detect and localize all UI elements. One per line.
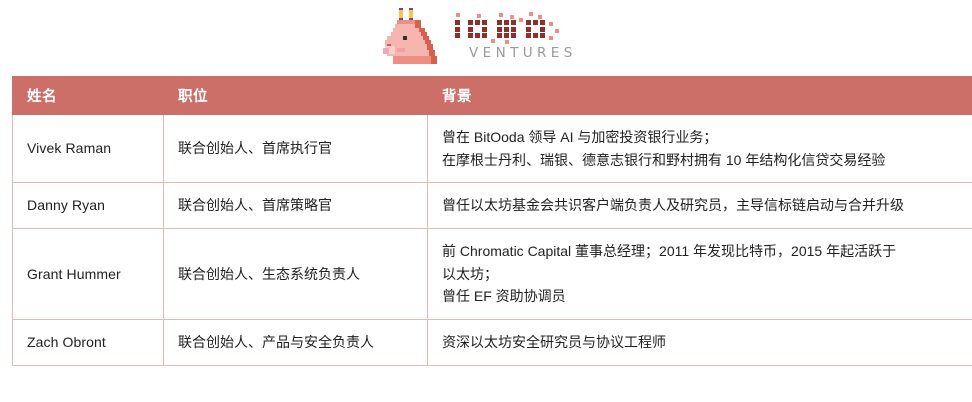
cell-role: 联合创始人、首席策略官 <box>164 183 428 229</box>
person-name: Grant Hummer <box>27 266 121 282</box>
iosg-ventures-logo: VENTURES <box>383 8 585 64</box>
background-line: 前 Chromatic Capital 董事总经理；2011 年发现比特币，20… <box>442 240 972 263</box>
background-line: 曾在 BitOoda 领导 AI 与加密投资银行业务； <box>442 126 972 149</box>
cell-name: Zach Obront <box>13 320 164 366</box>
table-row: Zach Obront 联合创始人、产品与安全负责人 资深以太坊安全研究员与协议… <box>13 320 972 366</box>
table-row: Danny Ryan 联合创始人、首席策略官 曾任以太坊基金会共识客户端负责人及… <box>13 183 972 229</box>
table-body: Vivek Raman 联合创始人、首席执行官 曾在 BitOoda 领导 AI… <box>13 115 972 366</box>
cell-name: Grant Hummer <box>13 229 164 320</box>
cell-name: Vivek Raman <box>13 115 164 183</box>
cell-role: 联合创始人、生态系统负责人 <box>164 229 428 320</box>
cell-name: Danny Ryan <box>13 183 164 229</box>
background-line: 在摩根士丹利、瑞银、德意志银行和野村拥有 10 年结构化信贷交易经验 <box>442 149 972 172</box>
table-row: Vivek Raman 联合创始人、首席执行官 曾在 BitOoda 领导 AI… <box>13 115 972 183</box>
column-header-background: 背景 <box>428 77 972 115</box>
background-line: 曾任以太坊基金会共识客户端负责人及研究员，主导信标链启动与合并升级 <box>442 194 972 217</box>
table-header: 姓名 职位 背景 <box>13 77 972 115</box>
person-name: Vivek Raman <box>27 140 111 156</box>
background-line: 资深以太坊安全研究员与协议工程师 <box>442 331 972 354</box>
table-row: Grant Hummer 联合创始人、生态系统负责人 前 Chromatic C… <box>13 229 972 320</box>
cell-role: 联合创始人、产品与安全负责人 <box>164 320 428 366</box>
team-table: 姓名 职位 背景 Vivek Raman 联合创始人、首席执行官 曾在 BitO… <box>12 76 972 366</box>
iosg-wordmark-icon <box>453 12 585 46</box>
brand-logo-header: VENTURES <box>0 0 972 72</box>
person-name: Zach Obront <box>27 334 106 350</box>
iosg-llama-mascot-icon <box>383 8 441 64</box>
table-header-row: 姓名 职位 背景 <box>13 77 972 115</box>
cell-background: 曾任以太坊基金会共识客户端负责人及研究员，主导信标链启动与合并升级 <box>428 183 972 229</box>
cell-background: 前 Chromatic Capital 董事总经理；2011 年发现比特币，20… <box>428 229 972 320</box>
column-header-role: 职位 <box>164 77 428 115</box>
background-line: 曾任 EF 资助协调员 <box>442 285 972 308</box>
cell-role: 联合创始人、首席执行官 <box>164 115 428 183</box>
ventures-tagline: VENTURES <box>469 47 577 61</box>
team-table-container: 姓名 职位 背景 Vivek Raman 联合创始人、首席执行官 曾在 BitO… <box>12 76 960 366</box>
cell-background: 资深以太坊安全研究员与协议工程师 <box>428 320 972 366</box>
person-name: Danny Ryan <box>27 197 105 213</box>
cell-background: 曾在 BitOoda 领导 AI 与加密投资银行业务； 在摩根士丹利、瑞银、德意… <box>428 115 972 183</box>
wordmark-group: VENTURES <box>453 12 585 61</box>
column-header-name: 姓名 <box>13 77 164 115</box>
background-line: 以太坊； <box>442 263 972 286</box>
